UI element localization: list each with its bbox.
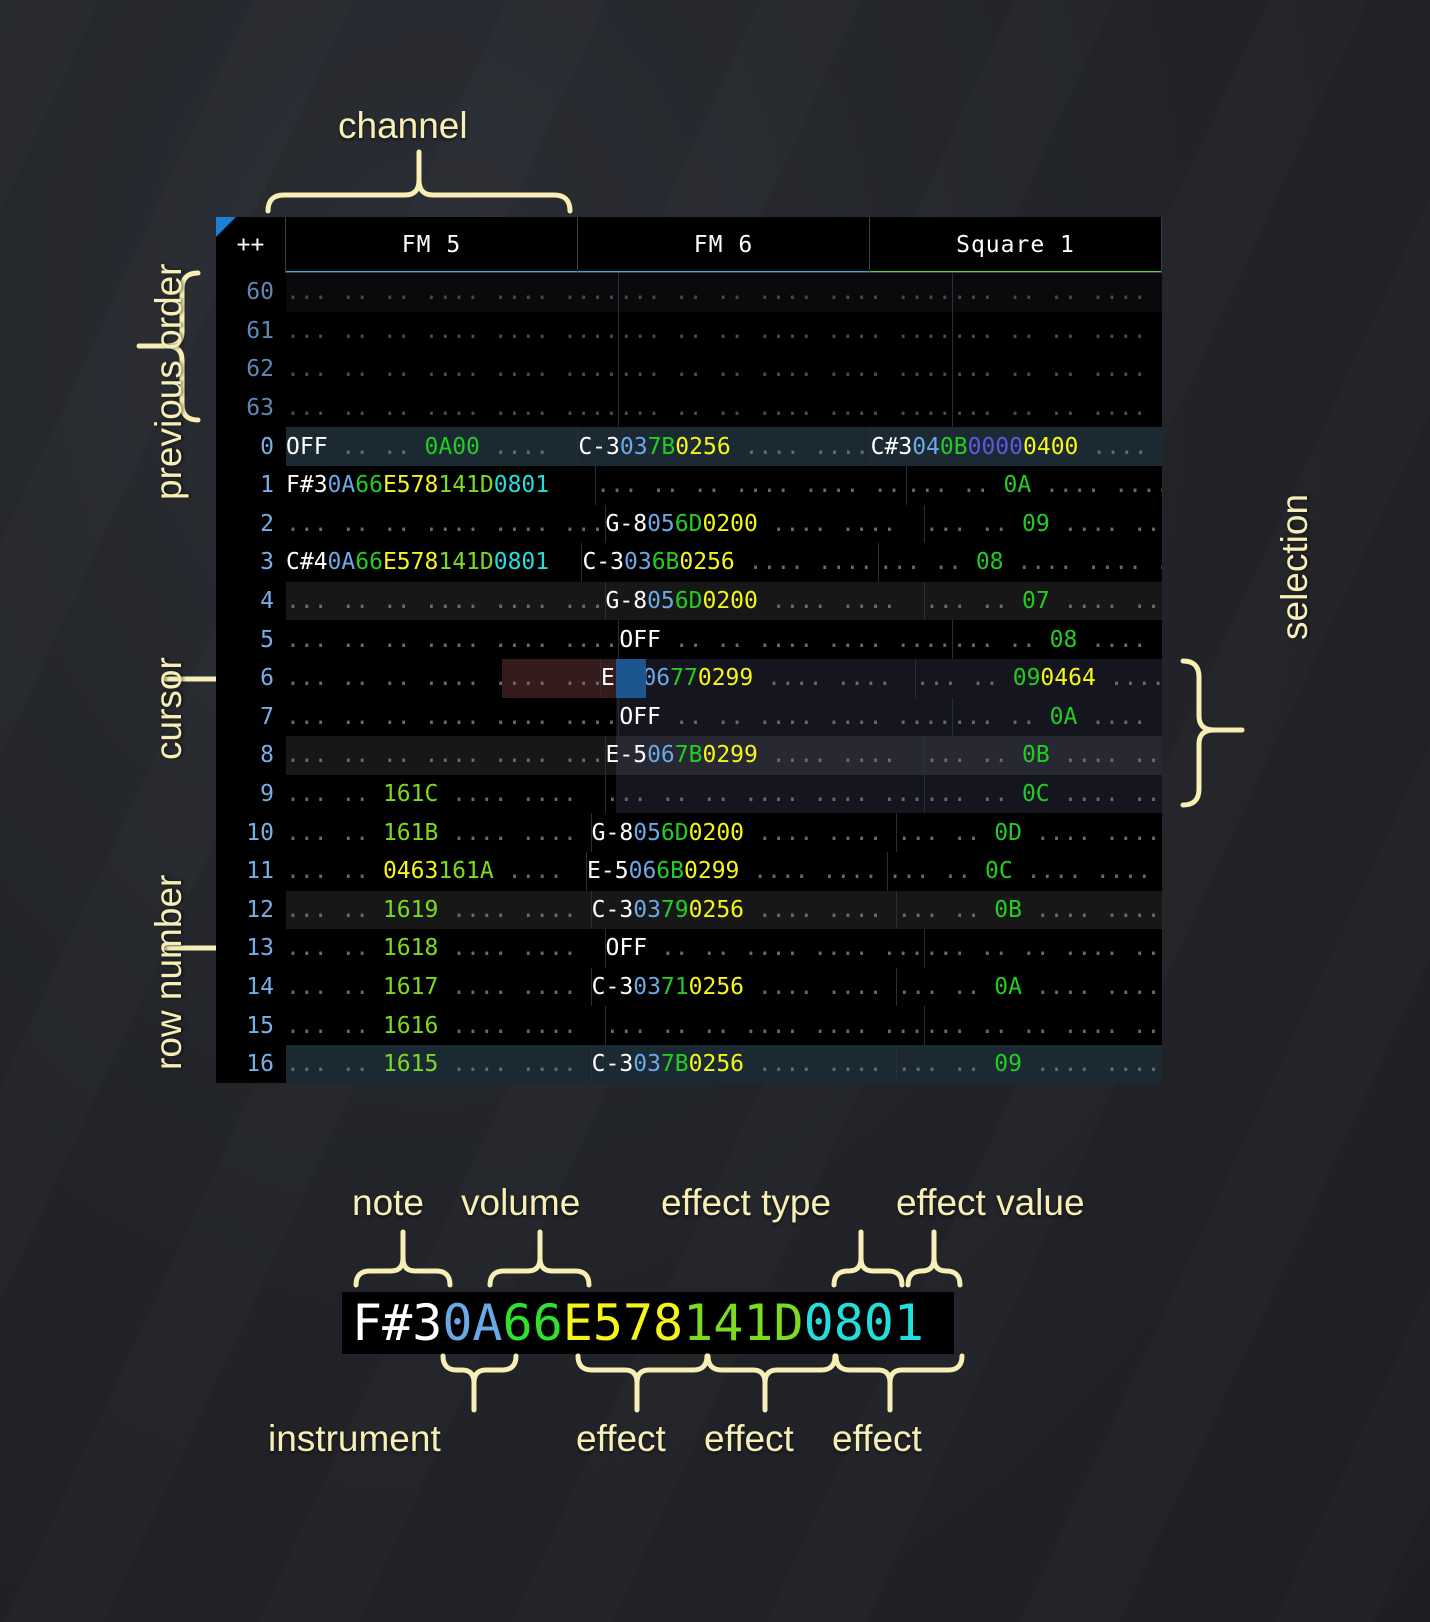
cell-field: 0A (994, 974, 1022, 1000)
channel-name-label: FM 5 (402, 232, 461, 258)
channel-header-fm6[interactable]: FM 6 (578, 217, 870, 273)
row-channel-cells[interactable]: ... .. .. .... .... ....G-8056D0200 ....… (286, 582, 1162, 621)
cell-field: 1618 (383, 935, 438, 961)
row-channel-cells[interactable]: ... .. 1617 .... ....C-303710256 .... ..… (286, 968, 1162, 1007)
row-channel-cells[interactable]: ... .. .. .... .... ....... .. .. .... .… (286, 273, 1162, 312)
cell-field: .... .... (758, 742, 896, 768)
pattern-cell[interactable]: ... .. 0B .... .... .... (925, 736, 1162, 775)
cell-field: E578 (383, 472, 438, 498)
pattern-cell[interactable]: ... .. 09 .... .... .... (925, 505, 1162, 544)
cell-field: 04 (912, 434, 940, 460)
cell-field: ... .. .. .... .... .... (925, 1013, 1162, 1039)
pattern-cell[interactable]: ... .. .. .... .... .... (286, 389, 619, 428)
pattern-cell[interactable]: ... .. 161C .... .... (286, 775, 606, 814)
annotation-label-selection: selection (1274, 494, 1316, 640)
screenshot-canvas: ++ FM 5 FM 6 Square 1 60... .. .. .... .… (0, 0, 1430, 1622)
cell-field: 0256 (675, 434, 730, 460)
legend-field-effect2: 141D (683, 1294, 803, 1352)
cell-field: .... .... (744, 897, 882, 923)
order-header-cell[interactable]: ++ (216, 217, 286, 273)
pattern-row[interactable]: 16... .. 1615 .... ....C-3037B0256 .... … (216, 1045, 1162, 1083)
cell-field: .. .. (328, 434, 411, 460)
row-channel-cells[interactable]: ... .. 1615 .... ....C-3037B0256 .... ..… (286, 1045, 1162, 1083)
row-number-cell: 63 (216, 389, 286, 428)
cell-field: 0200 (702, 588, 757, 614)
cell-field: 0801 (494, 549, 549, 575)
pattern-cell[interactable]: ... .. 0463161A .... (286, 852, 587, 891)
cell-field: ... .. (925, 742, 1022, 768)
row-channel-cells[interactable]: ... .. .. .... .... ....E-506770299 ....… (286, 659, 1162, 698)
pattern-row[interactable]: 3C#40A66E578141D0801C-3036B0256 .... ...… (216, 543, 1162, 582)
pattern-cell[interactable]: ... .. .. .... .... .... (286, 620, 619, 659)
cell-field: ... .. .. .... .... .... (286, 627, 618, 653)
row-channel-cells[interactable]: ... .. 0463161A ....E-5066B0299 .... ...… (286, 852, 1162, 891)
cell-field: ... .. (286, 897, 383, 923)
cell-field: .... (494, 858, 563, 884)
row-number-cell: 60 (216, 273, 286, 312)
cell-field: ... .. .. .... .... .... (619, 279, 951, 305)
pattern-cell[interactable]: C-3036B0256 .... .... (582, 543, 878, 582)
row-number-cell: 9 (216, 775, 286, 814)
row-number-cell: 8 (216, 736, 286, 775)
pattern-row[interactable]: 10... .. 161B .... ....G-8056D0200 .... … (216, 813, 1162, 852)
cell-field: 0A00 (425, 434, 480, 460)
cell-field: 09 (1013, 665, 1041, 691)
pattern-cell[interactable]: ... .. .. .... .... .... (286, 736, 606, 775)
pattern-cell[interactable]: ... .. .. .... .... .... (619, 273, 952, 312)
cell-field: ... .. (925, 781, 1022, 807)
cell-field: ... .. .. .... .... .... (606, 1013, 926, 1039)
cell-field: ... .. .. .... .... .... (286, 511, 606, 537)
cell-field: 0256 (689, 1051, 744, 1077)
row-channel-cells[interactable]: ... .. 161B .... ....G-8056D0200 .... ..… (286, 813, 1162, 852)
row-number-cell: 62 (216, 350, 286, 389)
row-number-cell: 2 (216, 505, 286, 544)
row-channel-cells[interactable]: ... .. .. .... .... ....G-8056D0200 ....… (286, 505, 1162, 544)
row-channel-cells[interactable]: ... .. 161C .... ....... .. .. .... ....… (286, 775, 1162, 814)
brace-effect-value (908, 1258, 960, 1285)
cell-field: .... .... (744, 974, 882, 1000)
pattern-cell[interactable]: ... .. 0A .... .... .... (953, 698, 1162, 737)
legend-field-volume: 66 (503, 1294, 563, 1352)
cell-field: .. .. .... .... .... (661, 627, 952, 653)
cell-field: .... .... (758, 588, 896, 614)
pattern-row[interactable]: 8... .. .. .... .... ....E-5067B0299 ...… (216, 736, 1162, 775)
channel-header-square1[interactable]: Square 1 (870, 217, 1162, 273)
cell-field: ... .. (286, 974, 383, 1000)
cell-field: OFF (619, 704, 661, 730)
cell-field: ... .. .. .... .... .... (925, 935, 1162, 961)
cell-field: 05 (633, 820, 661, 846)
cell-field: .... .... (438, 820, 576, 846)
order-marker-triangle-icon (216, 217, 236, 237)
cell-field: 0000 (968, 434, 1023, 460)
row-number-cell: 13 (216, 929, 286, 968)
pattern-cell[interactable]: ... .. 08 .... .... .... (879, 543, 1162, 582)
pattern-cell[interactable]: ... .. 0A .... .... .... (897, 968, 1162, 1007)
row-number-cell: 14 (216, 968, 286, 1007)
cell-field: 7B (661, 1051, 689, 1077)
pattern-cell[interactable]: E-506770299 .... .... (601, 659, 916, 698)
cell-field: G-8 (606, 588, 648, 614)
pattern-cell[interactable]: ... .. 1618 .... .... (286, 929, 606, 968)
cell-field: ... .. (897, 897, 994, 923)
channel-header-fm5[interactable]: FM 5 (286, 217, 578, 273)
row-channel-cells[interactable]: C#40A66E578141D0801C-3036B0256 .... ....… (286, 543, 1162, 582)
pattern-cell[interactable]: ... .. .. .... .... .... (925, 929, 1162, 968)
pattern-row[interactable]: 15... .. 1616 .... ....... .. .. .... ..… (216, 1006, 1162, 1045)
cell-field: .... .... .... (1077, 627, 1162, 653)
legend-field-instrument: 0A (442, 1294, 502, 1352)
cell-field: ... .. .. .... .... .... (286, 279, 618, 305)
pattern-cell[interactable]: ... .. .. .... .... .... (619, 350, 952, 389)
cell-field: ... .. .. .... .... .... (953, 318, 1162, 344)
cell-field: 7B (648, 434, 676, 460)
annotation-label-effect-3: effect (832, 1418, 922, 1460)
cell-field: ... .. .. .... .... .... (596, 472, 906, 498)
cell-field: ... .. (879, 549, 976, 575)
cell-field: .... .... .... (1050, 781, 1162, 807)
pattern-cell[interactable]: ... .. .. .... .... .... (606, 1006, 926, 1045)
cell-field: .... .... (1096, 665, 1162, 691)
annotation-label-previous-order: previous order (148, 263, 190, 500)
cell-field: .... .... .... (1022, 820, 1162, 846)
cell-field: 0400 (1023, 434, 1078, 460)
pattern-cell[interactable]: ... .. 0C .... .... .... (888, 852, 1162, 891)
cell-field: 05 (647, 588, 675, 614)
row-channel-cells[interactable]: ... .. .. .... .... ....OFF .. .. .... .… (286, 698, 1162, 737)
cell-field: 6D (675, 588, 703, 614)
cell-field: C-3 (592, 897, 634, 923)
legend-field-effect1: E578 (563, 1294, 683, 1352)
pattern-row[interactable]: 6... .. .. .... .... ....E-506770299 ...… (216, 659, 1162, 698)
pattern-cell[interactable]: OFF .. .. 0A00 .... (286, 427, 578, 466)
annotation-label-instrument: instrument (268, 1418, 441, 1460)
pattern-row[interactable]: 12... .. 1619 .... ....C-303790256 .... … (216, 891, 1162, 930)
cell-field: C#3 (871, 434, 913, 460)
cell-field: 08 (976, 549, 1004, 575)
cell-field: .... .... .... (1077, 704, 1162, 730)
cell-field: 03 (633, 897, 661, 923)
cell-field: 0200 (689, 820, 744, 846)
pattern-cell[interactable]: G-8056D0200 .... .... (606, 505, 926, 544)
cell-field: .... .... (744, 1051, 882, 1077)
pattern-row[interactable]: 4... .. .. .... .... ....G-8056D0200 ...… (216, 582, 1162, 621)
cell-field: 141D (438, 549, 493, 575)
cell-field: 1617 (383, 974, 438, 1000)
pattern-cell[interactable]: ... .. .. .... .... .... (953, 312, 1162, 351)
cell-field: .... .... (438, 1013, 576, 1039)
pattern-cell[interactable]: ... .. 07 .... .... .... (925, 582, 1162, 621)
annotation-label-channel: channel (338, 105, 468, 147)
cell-field: ... .. .. .... .... .... (286, 704, 618, 730)
pattern-cell[interactable]: ... .. 09 .... .... .... (897, 1045, 1162, 1083)
row-channel-cells[interactable]: OFF .. .. 0A00 ....C-3037B0256 .... ....… (286, 427, 1162, 466)
cell-field: .... .... (438, 897, 576, 923)
pattern-cell[interactable]: ... .. 1619 .... .... (286, 891, 592, 930)
pattern-cell[interactable]: ... .. 08 .... .... .... (953, 620, 1162, 659)
pattern-cell[interactable]: ... .. .. .... .... .... (286, 312, 619, 351)
cell-field: 06 (642, 665, 670, 691)
cell-field: .... .... (438, 974, 576, 1000)
order-header-label: ++ (237, 232, 265, 258)
pattern-cell[interactable]: E-5067B0299 .... .... (606, 736, 926, 775)
annotation-label-effect-value: effect value (896, 1182, 1085, 1224)
row-number-cell: 15 (216, 1006, 286, 1045)
cell-field: .... .... .... (1022, 897, 1162, 923)
pattern-cell[interactable]: ... .. .. .... .... .... (286, 659, 601, 698)
cell-field: 07 (1022, 588, 1050, 614)
cell-field: ... .. (888, 858, 985, 884)
pattern-cell[interactable]: ... .. .. .... .... .... (606, 775, 926, 814)
cell-field: 03 (633, 1051, 661, 1077)
annotation-label-effect-1: effect (576, 1418, 666, 1460)
cell-field: 6B (652, 549, 680, 575)
pattern-cell[interactable]: ... .. .. .... .... .... (286, 273, 619, 312)
cell-field: ... .. (897, 820, 994, 846)
pattern-row[interactable]: 61... .. .. .... .... ....... .. .. ....… (216, 312, 1162, 351)
cell-field: 6D (661, 820, 689, 846)
cell-field: 6D (675, 511, 703, 537)
cell-field: .... .... (438, 935, 576, 961)
pattern-cell[interactable]: C#40A66E578141D0801 (286, 543, 582, 582)
pattern-cell[interactable]: G-8056D0200 .... .... (606, 582, 926, 621)
pattern-cell[interactable]: ... .. .. .... .... .... (619, 312, 952, 351)
cell-field: 0D (994, 820, 1022, 846)
cell-field: ... .. (907, 472, 1004, 498)
pattern-cell[interactable]: OFF .. .. .... .... .... (619, 620, 952, 659)
cell-field: C#4 (286, 549, 328, 575)
cell-field: ... .. .. .... .... .... (286, 588, 606, 614)
cell-field: ... .. (286, 820, 383, 846)
pattern-cell[interactable]: ... .. 0A .... .... .... (907, 466, 1162, 505)
pattern-cell[interactable]: ... .. 161B .... .... (286, 813, 592, 852)
cell-field: 03 (624, 549, 652, 575)
cell-field: 0463 (383, 858, 438, 884)
row-number-cell: 12 (216, 891, 286, 930)
pattern-row[interactable]: 63... .. .. .... .... ....... .. .. ....… (216, 389, 1162, 428)
row-channel-cells[interactable]: ... .. 1616 .... ....... .. .. .... ....… (286, 1006, 1162, 1045)
cell-field: ... .. (925, 588, 1022, 614)
annotation-label-volume: volume (461, 1182, 580, 1224)
annotation-label-effect-type: effect type (661, 1182, 831, 1224)
pattern-cell[interactable]: ... .. 0C .... .... .... (925, 775, 1162, 814)
cell-field: 77 (670, 665, 698, 691)
cell-field: OFF (286, 434, 328, 460)
row-number-cell: 1 (216, 466, 286, 505)
pattern-cell[interactable]: ... .. .. .... .... .... (286, 698, 619, 737)
cell-field: 161C (383, 781, 438, 807)
pattern-cell[interactable]: ... .. 0B .... .... .... (897, 891, 1162, 930)
pattern-cell[interactable]: C-3037B0256 .... .... (592, 1045, 898, 1083)
row-channel-cells[interactable]: ... .. .. .... .... ....E-5067B0299 ....… (286, 736, 1162, 775)
cell-field: ... .. (897, 1051, 994, 1077)
cell-field: ... .. .. .... .... .... (286, 356, 618, 382)
pattern-row[interactable]: 11... .. 0463161A ....E-5066B0299 .... .… (216, 852, 1162, 891)
cell-field: 79 (661, 897, 689, 923)
pattern-cell[interactable]: F#30A66E578141D0801 (286, 466, 596, 505)
cell-field: .... .... .... (1031, 472, 1162, 498)
pattern-row[interactable]: 1F#30A66E578141D0801... .. .. .... .... … (216, 466, 1162, 505)
pattern-cell[interactable]: ... .. .. .... .... .... (953, 389, 1162, 428)
cell-field: 05 (647, 511, 675, 537)
cell-field: ... .. .. .... .... .... (953, 356, 1162, 382)
cell-field: .... (480, 434, 549, 460)
cell-field: 0464 (1040, 665, 1095, 691)
row-number-cell: 61 (216, 312, 286, 351)
cell-field: 0C (985, 858, 1013, 884)
cell-field: OFF (619, 627, 661, 653)
row-channel-cells[interactable]: ... .. .. .... .... ....... .. .. .... .… (286, 389, 1162, 428)
cell-field: 0299 (684, 858, 739, 884)
pattern-row[interactable]: 7... .. .. .... .... ....OFF .. .. .... … (216, 698, 1162, 737)
pattern-cell[interactable]: C-303790256 .... .... (592, 891, 898, 930)
brace-effect3 (836, 1356, 962, 1383)
pattern-row[interactable]: 60... .. .. .... .... ....... .. .. ....… (216, 273, 1162, 312)
cell-field: C-3 (592, 974, 634, 1000)
pattern-row[interactable]: 14... .. 1617 .... ....C-303710256 .... … (216, 968, 1162, 1007)
cell-field: ... .. .. .... .... .... (286, 665, 601, 691)
cell-field: 1615 (383, 1051, 438, 1077)
cell-field: .... .... .... (1050, 742, 1162, 768)
pattern-rows[interactable]: 60... .. .. .... .... ....... .. .. ....… (216, 273, 1162, 1083)
pattern-cell[interactable]: OFF .. .. .... .... .... (606, 929, 926, 968)
pattern-cell[interactable]: ... .. .. .... .... .... (286, 582, 606, 621)
pattern-cell[interactable]: OFF .. .. .... .... .... (619, 698, 952, 737)
row-number-cell: 6 (216, 659, 286, 698)
cell-field: ... .. .. .... .... .... (286, 395, 618, 421)
cell-field: 141D (438, 472, 493, 498)
cell-field: 0B (1022, 742, 1050, 768)
pattern-row[interactable]: 2... .. .. .... .... ....G-8056D0200 ...… (216, 505, 1162, 544)
cell-field: 0256 (679, 549, 734, 575)
row-number-cell: 16 (216, 1045, 286, 1083)
cell-field: ... .. (925, 511, 1022, 537)
pattern-cell[interactable]: ... .. 1616 .... .... (286, 1006, 606, 1045)
pattern-cell[interactable]: ... .. .. .... .... .... (596, 466, 906, 505)
pattern-cell[interactable]: ... .. .. .... .... .... (925, 1006, 1162, 1045)
cell-field: 1616 (383, 1013, 438, 1039)
cell-field: .... .... .... (1050, 511, 1162, 537)
cell-field: ... .. (953, 627, 1050, 653)
row-channel-cells[interactable]: ... .. .. .... .... ....... .. .. .... .… (286, 312, 1162, 351)
cell-field: ... .. (286, 1013, 383, 1039)
cell-field: C-3 (582, 549, 624, 575)
pattern-cell[interactable]: ... .. 090464 .... .... (916, 659, 1162, 698)
pattern-cell[interactable]: ... .. .. .... .... .... (286, 350, 619, 389)
cell-field: 0256 (689, 974, 744, 1000)
cell-field: 0B (940, 434, 968, 460)
pattern-cell[interactable]: E-5066B0299 .... .... (587, 852, 888, 891)
channel-name-label: FM 6 (694, 232, 753, 258)
cell-field: 0C (1022, 781, 1050, 807)
cell-field: E-5 (606, 742, 648, 768)
pattern-cell[interactable]: C#3040B00000400 .... (871, 427, 1162, 466)
pattern-row[interactable]: 0OFF .. .. 0A00 ....C-3037B0256 .... ...… (216, 427, 1162, 466)
row-channel-cells[interactable]: ... .. .. .... .... ....OFF .. .. .... .… (286, 620, 1162, 659)
cell-field: 09 (1022, 511, 1050, 537)
pattern-cell[interactable]: ... .. 1615 .... .... (286, 1045, 592, 1083)
cell-field: 0A (1050, 704, 1078, 730)
cell-field: .... .... (731, 434, 869, 460)
legend-field-note: F#3 (352, 1294, 442, 1352)
cell-field: 71 (661, 974, 689, 1000)
pattern-row[interactable]: 5... .. .. .... .... ....OFF .. .. .... … (216, 620, 1162, 659)
cell-field: G-8 (592, 820, 634, 846)
pattern-cell[interactable]: C-3037B0256 .... .... (578, 427, 870, 466)
cell-field: ... .. .. .... .... .... (286, 742, 606, 768)
legend-sample-cell: F#30A66E578141D0801 (342, 1292, 954, 1354)
brace-note (356, 1258, 450, 1285)
cell-field: ... .. .. .... .... .... (619, 318, 951, 344)
cell-field: 6B (656, 858, 684, 884)
annotation-label-note: note (352, 1182, 424, 1224)
cell-field: E578 (383, 549, 438, 575)
cell-field: 06 (629, 858, 657, 884)
cell-field: .... (1078, 434, 1147, 460)
pattern-cell[interactable]: ... .. 1617 .... .... (286, 968, 592, 1007)
row-channel-cells[interactable]: F#30A66E578141D0801... .. .. .... .... .… (286, 466, 1162, 505)
row-channel-cells[interactable]: ... .. 1618 .... ....OFF .. .. .... ....… (286, 929, 1162, 968)
cell-field: ... .. (286, 781, 383, 807)
cell-field (411, 434, 425, 460)
pattern-row[interactable]: 13... .. 1618 .... ....OFF .. .. .... ..… (216, 929, 1162, 968)
row-channel-cells[interactable]: ... .. 1619 .... ....C-303790256 .... ..… (286, 891, 1162, 930)
pattern-editor[interactable]: ++ FM 5 FM 6 Square 1 60... .. .. .... .… (216, 217, 1162, 1083)
cell-field: ... .. (286, 1051, 383, 1077)
brace-volume (490, 1258, 589, 1285)
cell-field: 1619 (383, 897, 438, 923)
cell-field: .... .... .... (1022, 974, 1162, 1000)
pattern-row[interactable]: 9... .. 161C .... ....... .. .. .... ...… (216, 775, 1162, 814)
pattern-cell[interactable]: C-303710256 .... .... (592, 968, 898, 1007)
pattern-cell[interactable]: ... .. .. .... .... .... (619, 389, 952, 428)
cell-field: 0B (994, 897, 1022, 923)
cell-field: ... .. (286, 935, 383, 961)
pattern-cell[interactable]: ... .. .. .... .... .... (286, 505, 606, 544)
cell-field: .... .... (735, 549, 873, 575)
brace-selection (1183, 661, 1214, 805)
pattern-row[interactable]: 62... .. .. .... .... ....... .. .. ....… (216, 350, 1162, 389)
pattern-cell[interactable]: G-8056D0200 .... .... (592, 813, 898, 852)
cell-field: .. .. .... .... .... (647, 935, 925, 961)
cell-field: 06 (647, 742, 675, 768)
row-number-cell: 0 (216, 427, 286, 466)
cell-field: ... .. .. .... .... .... (619, 395, 951, 421)
cell-field: C-3 (592, 1051, 634, 1077)
cell-field: .... .... (739, 858, 877, 884)
pattern-cell[interactable]: ... .. .. .... .... .... (953, 350, 1162, 389)
brace-effect-type (834, 1258, 902, 1285)
cell-field: 0299 (702, 742, 757, 768)
pattern-cell[interactable]: ... .. .. .... .... .... (953, 273, 1162, 312)
cell-field: .... .... (438, 1051, 576, 1077)
cell-field: ... .. (897, 974, 994, 1000)
row-number-cell: 4 (216, 582, 286, 621)
pattern-cell[interactable]: ... .. 0D .... .... .... (897, 813, 1162, 852)
cell-field: .. .. .... .... .... (661, 704, 952, 730)
cell-field: .... .... (758, 511, 896, 537)
cell-field: ... .. .. .... .... .... (953, 279, 1162, 305)
cell-field: 0299 (698, 665, 753, 691)
cell-field: .... .... .... (1004, 549, 1162, 575)
cell-field: E-5 (601, 665, 643, 691)
cell-field: ... .. (916, 665, 1013, 691)
row-channel-cells[interactable]: ... .. .. .... .... ....... .. .. .... .… (286, 350, 1162, 389)
cell-field: OFF (606, 935, 648, 961)
cell-field: 66 (355, 472, 383, 498)
cell-field: 161A (438, 858, 493, 884)
